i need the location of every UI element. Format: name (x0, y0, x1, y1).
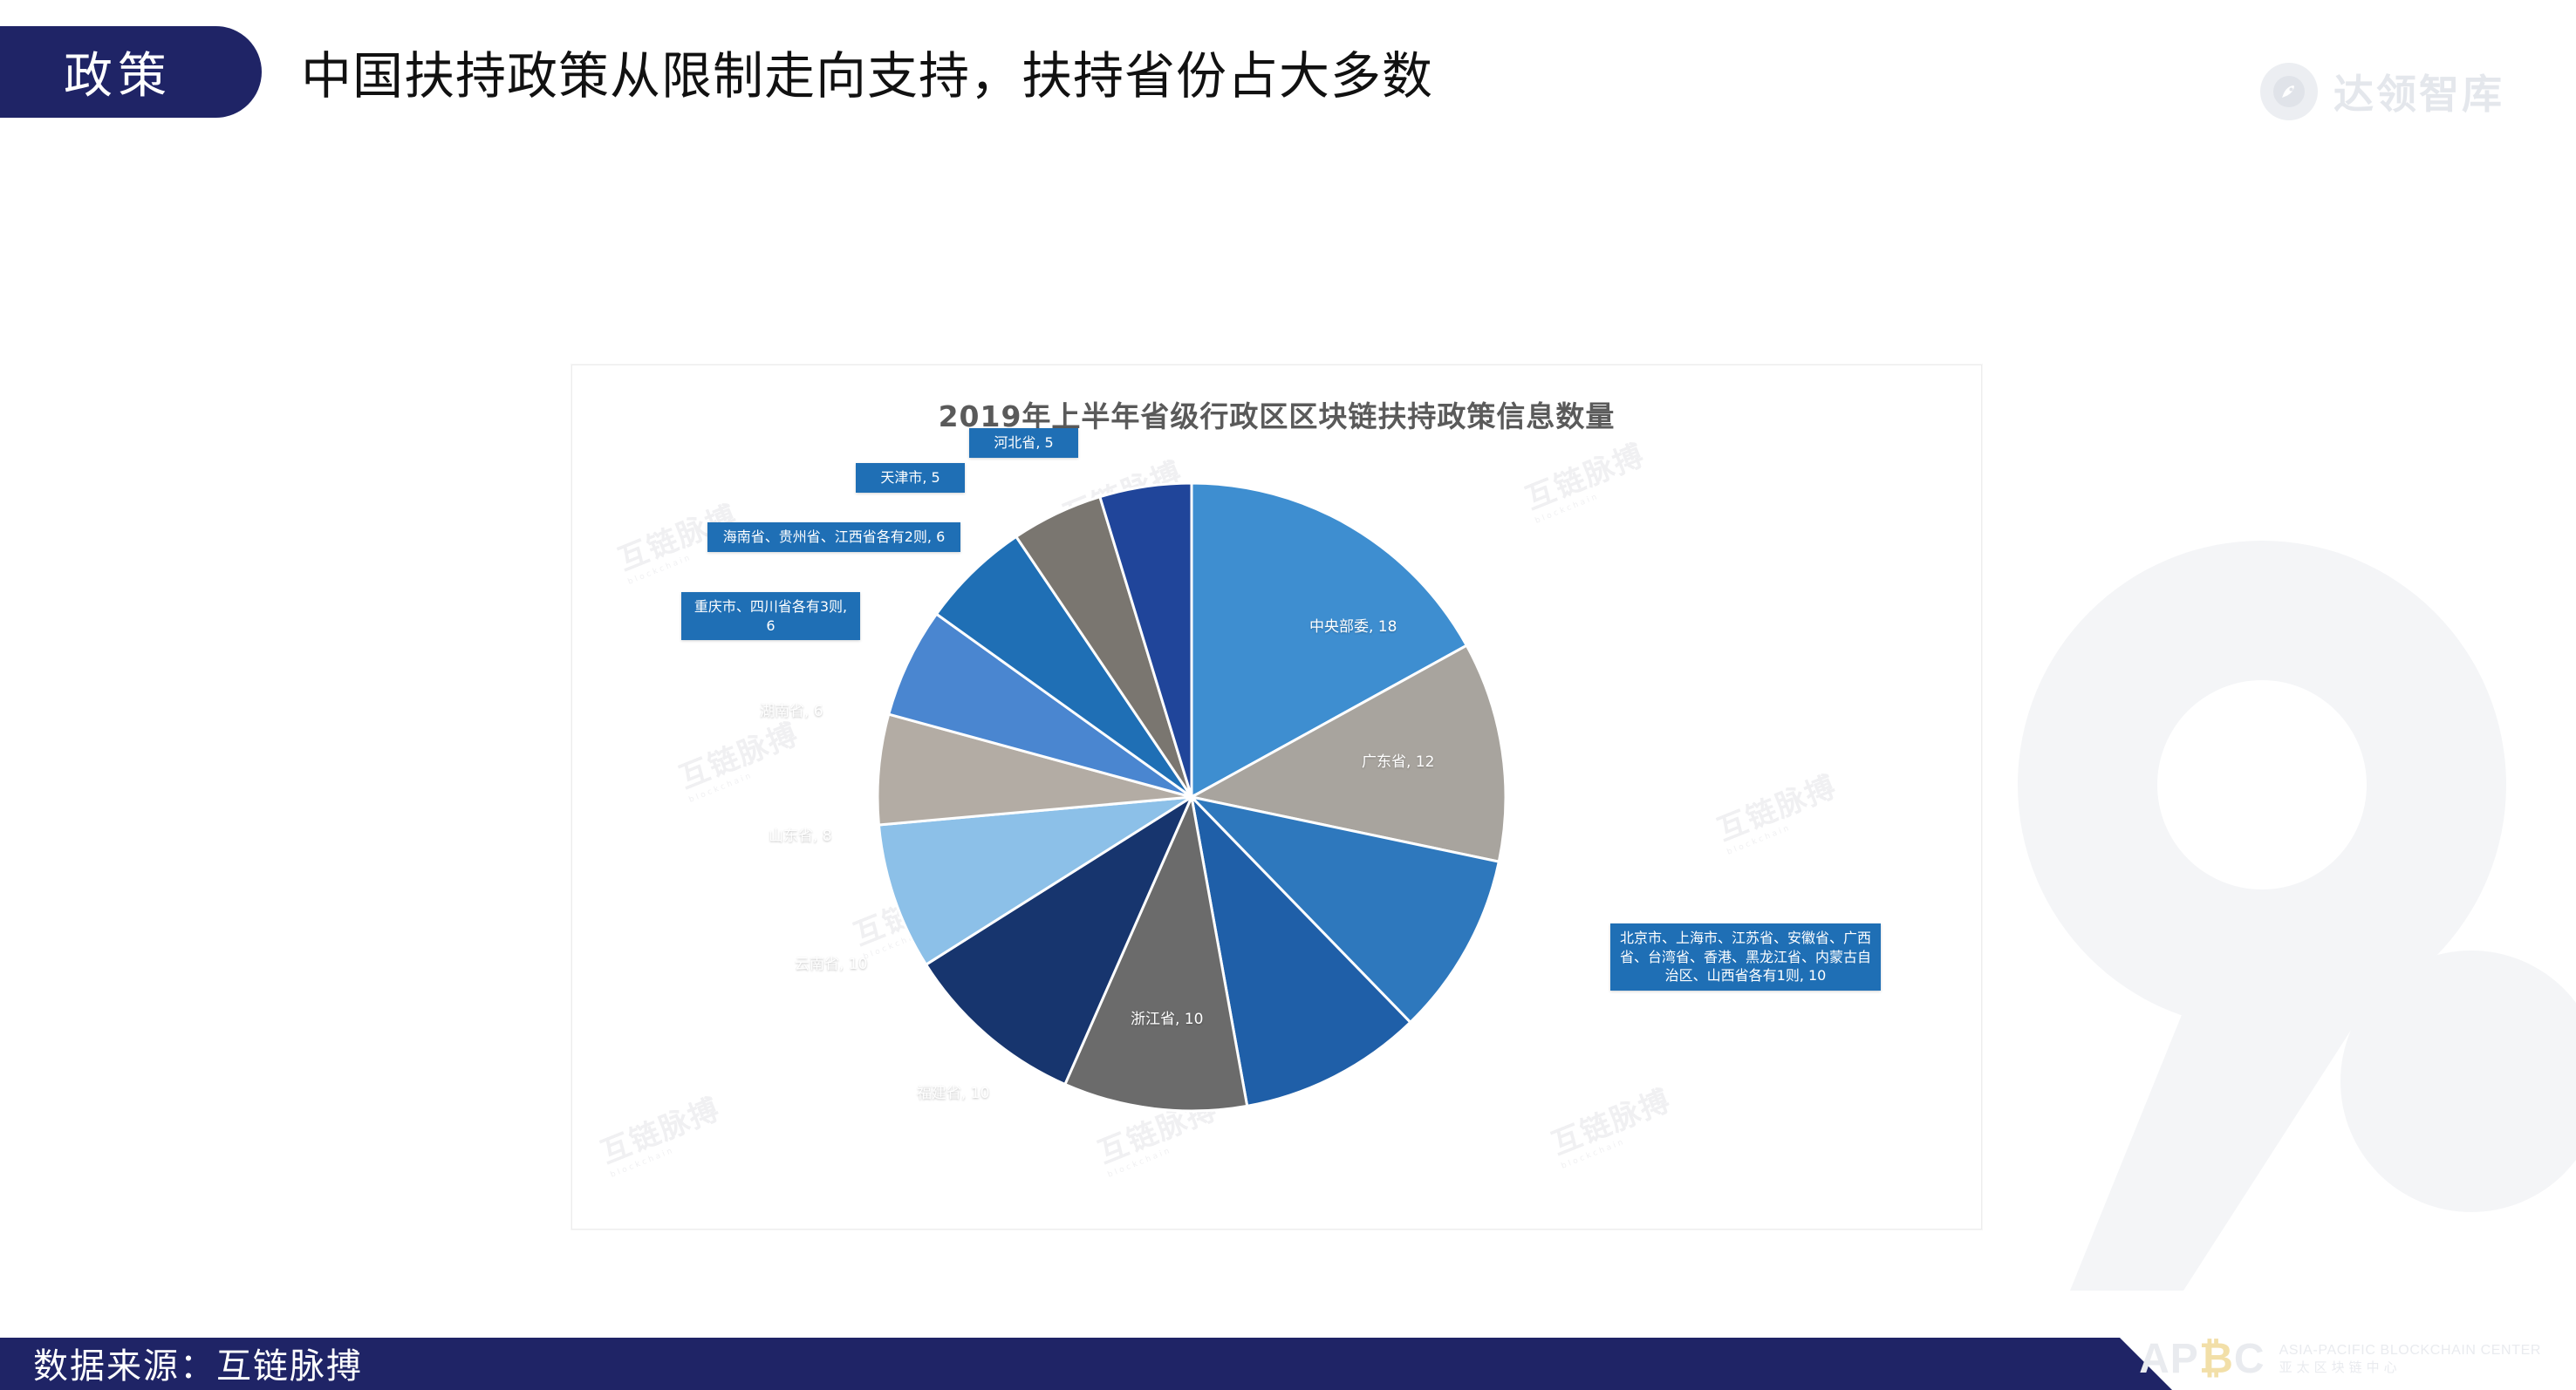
bitcoin-b-icon: ₿ (2199, 1336, 2234, 1382)
pie-callout-hainan-guizhou-jiangxi: 海南省、贵州省、江西省各有2则, 6 (707, 522, 960, 552)
section-tag-label: 政策 (0, 26, 236, 118)
data-source-label: 数据来源：互链脉搏 (33, 1338, 363, 1388)
pie-label-yunnan: 云南省, 10 (795, 951, 867, 973)
apbc-letter-p: P (2170, 1336, 2199, 1382)
pie-label-shandong: 山东省, 8 (769, 823, 832, 845)
pie-callout-chongqing-sichuan: 重庆市、四川省各有3则, 6 (681, 592, 860, 640)
apbc-chinese-name: 亚太区块链中心 (2279, 1359, 2541, 1376)
apbc-english-name: ASIA-PACIFIC BLOCKCHAIN CENTER (2279, 1342, 2541, 1359)
brand-name: 达领智库 (2333, 63, 2504, 120)
pie-label-central: 中央部委, 18 (1309, 614, 1397, 636)
section-tag-pill: 政策 (0, 26, 262, 118)
chart-title: 2019年上半年省级行政区区块链扶持政策信息数量 (572, 393, 1981, 435)
pie-label-zhejiang: 浙江省, 10 (1131, 1006, 1203, 1028)
pie-callout-one-each: 北京市、上海市、江苏省、安徽省、广西省、台湾省、香港、黑龙江省、内蒙古自治区、山… (1610, 923, 1881, 991)
pie-callout-hebei: 河北省, 5 (969, 428, 1078, 458)
brand-logo: 达领智库 (2260, 63, 2504, 120)
apbc-wordmark: AP₿C (2139, 1335, 2265, 1383)
pie-callout-tianjin: 天津市, 5 (856, 463, 965, 493)
pie-label-guangdong: 广东省, 12 (1362, 749, 1434, 771)
rocket-badge-icon (2260, 63, 2318, 120)
pie-chart (572, 365, 1981, 1229)
chart-card: 2019年上半年省级行政区区块链扶持政策信息数量 互链脉搏blockchain … (571, 365, 1982, 1230)
apbc-logo: AP₿C ASIA-PACIFIC BLOCKCHAIN CENTER 亚太区块… (2139, 1335, 2541, 1383)
page-title: 中国扶持政策从限制走向支持，扶持省份占大多数 (301, 35, 1433, 108)
pie-label-fujian: 福建省, 10 (917, 1080, 989, 1102)
pie-label-hunan: 湖南省, 6 (760, 698, 823, 720)
